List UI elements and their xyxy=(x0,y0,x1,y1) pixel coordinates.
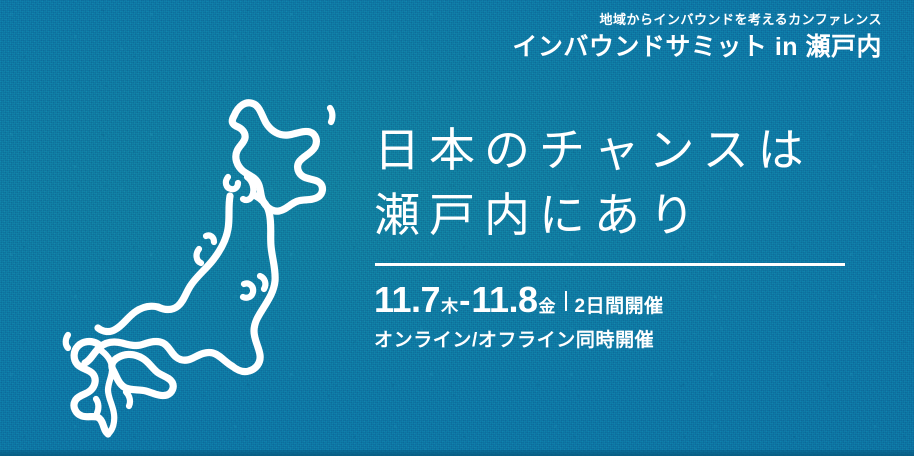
end-day-of-week: 金 xyxy=(539,298,556,315)
japan-map-svg xyxy=(58,44,358,434)
japan-map-illustration xyxy=(58,44,358,434)
noto-peninsula-tip xyxy=(197,249,201,263)
conference-title: インバウンドサミット in 瀬戸内 xyxy=(512,31,882,64)
noto-peninsula xyxy=(206,235,214,242)
page-title: 日本のチャンスは 瀬戸内にあり xyxy=(374,118,813,249)
divider xyxy=(375,263,845,266)
duration-note: 2日間開催 xyxy=(575,297,664,316)
aomori-notch-left xyxy=(226,177,238,189)
key-visual-banner: 地域からインバウンドを考えるカンファレンス インバウンドサミット in 瀬戸内 … xyxy=(0,0,914,456)
headline-line-1: 日本のチャンスは xyxy=(374,118,813,183)
izu-hook xyxy=(243,283,253,297)
format-note: オンライン/オフライン同時開催 xyxy=(374,325,664,352)
chugoku-north-coast xyxy=(98,306,158,331)
hokkaido-outline xyxy=(232,103,322,211)
shikoku-outline xyxy=(112,354,173,395)
okinawa-islet-lower xyxy=(96,399,98,413)
honshu-east-coast xyxy=(232,195,275,372)
okinawa-islet-upper xyxy=(126,392,130,406)
conference-tagline: 地域からインバウンドを考えるカンファレンス xyxy=(512,10,882,30)
hokkaido-cape-tick xyxy=(330,108,332,122)
kansai-kii-coast xyxy=(144,341,232,366)
end-date: 11.8 xyxy=(471,282,537,318)
date-range-dash: - xyxy=(459,284,470,318)
date-row: 11.7 木 - 11.8 金 2日間開催 xyxy=(374,282,664,318)
date-separator-rule xyxy=(565,291,567,311)
conference-lockup: 地域からインバウンドを考えるカンファレンス インバウンドサミット in 瀬戸内 xyxy=(512,10,882,63)
start-date: 11.7 xyxy=(374,282,440,318)
goto-islet-tick xyxy=(66,335,68,348)
schedule-block: 11.7 木 - 11.8 金 2日間開催 オンライン/オフライン同時開催 xyxy=(374,282,664,352)
start-day-of-week: 木 xyxy=(441,298,458,315)
boso-hook xyxy=(260,276,265,289)
headline-line-2: 瀬戸内にあり xyxy=(374,183,813,248)
